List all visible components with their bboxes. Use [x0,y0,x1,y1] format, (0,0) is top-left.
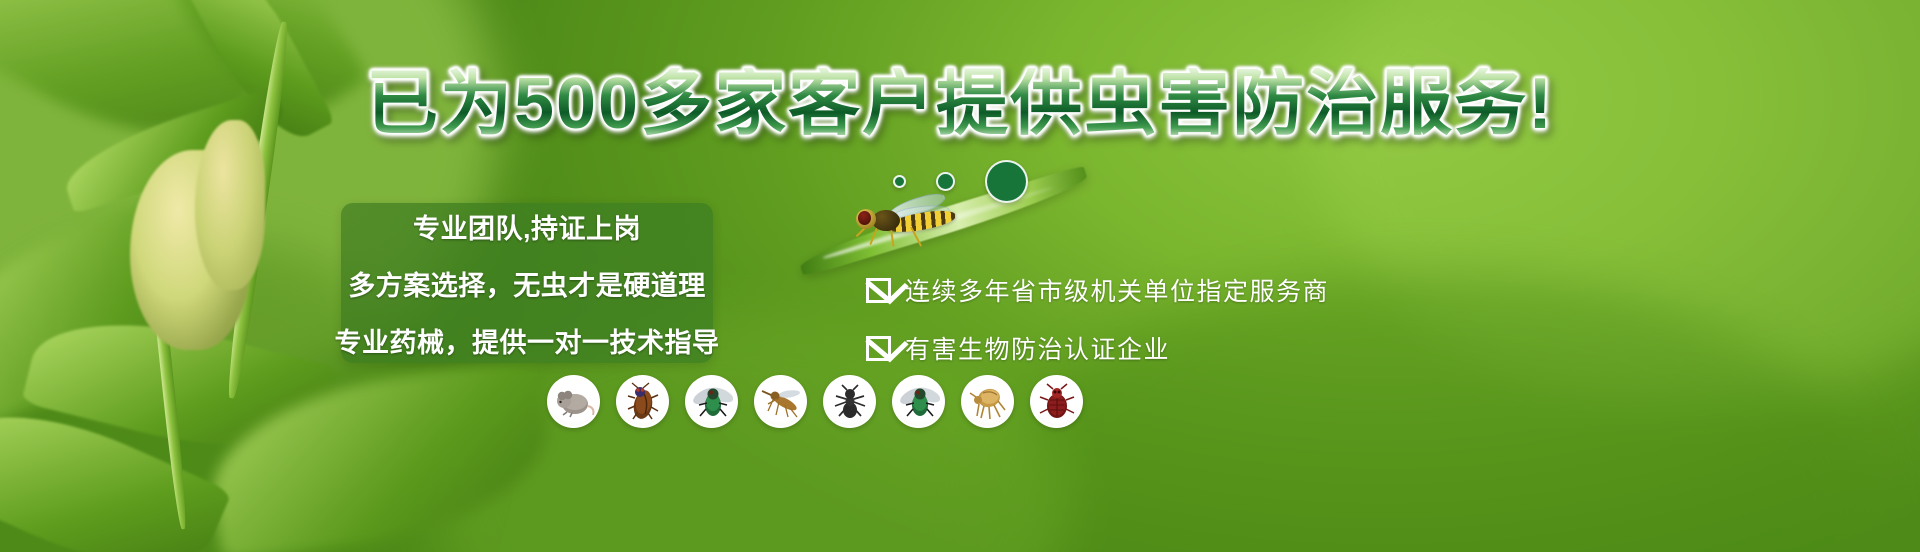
hoverfly-illustration [852,196,968,248]
fly-leg [869,228,878,245]
medium-dot [936,172,955,191]
flea-icon: 跳蚤 [961,375,1014,428]
fly-icon: 蝇 [685,375,738,428]
bedbug-icon: 臭虫 [1030,375,1083,428]
checklist-item-label: 连续多年省市级机关单位指定服务商 [905,272,1329,308]
panel-line-3: 专业药械，提供一对一技术指导 [335,321,720,360]
cockroach-icon: 蟑螂 [616,375,669,428]
pest-icon-row: 鼠 蟑螂 [547,375,1083,428]
checklist-item-label: 有害生物防治认证企业 [905,330,1170,366]
fly-head [856,209,876,229]
small-dot [893,175,906,188]
large-dot [985,160,1028,203]
banner-headline: 已为500多家客户提供虫害防治服务! [0,68,1920,140]
checklist-item: 有害生物防治认证企业 [866,330,1329,366]
panel-line-1: 专业团队,持证上岗 [413,207,641,246]
credentials-checklist: 连续多年省市级机关单位指定服务商 有害生物防治认证企业 [866,272,1329,366]
checklist-item: 连续多年省市级机关单位指定服务商 [866,272,1329,308]
selling-points-panel: 专业团队,持证上岗 多方案选择，无虫才是硬道理 专业药械，提供一对一技术指导 [341,203,713,363]
flower-cluster [195,120,265,290]
checkbox-check-icon [866,278,891,303]
blowfly-icon: 绿头蝇 [892,375,945,428]
fly-eye [858,211,871,225]
mosquito-icon: 蚊 [754,375,807,428]
panel-line-2: 多方案选择，无虫才是硬道理 [348,264,706,303]
mouse-icon: 鼠 [547,375,600,428]
promo-banner: 已为500多家客户提供虫害防治服务! 专业团队,持证上岗 多方案选择，无虫才是硬… [0,0,1920,552]
ant-icon: 蚂蚁 [823,375,876,428]
checkbox-check-icon [866,336,891,361]
fly-thorax [872,210,900,231]
decorative-dots [0,160,1920,203]
